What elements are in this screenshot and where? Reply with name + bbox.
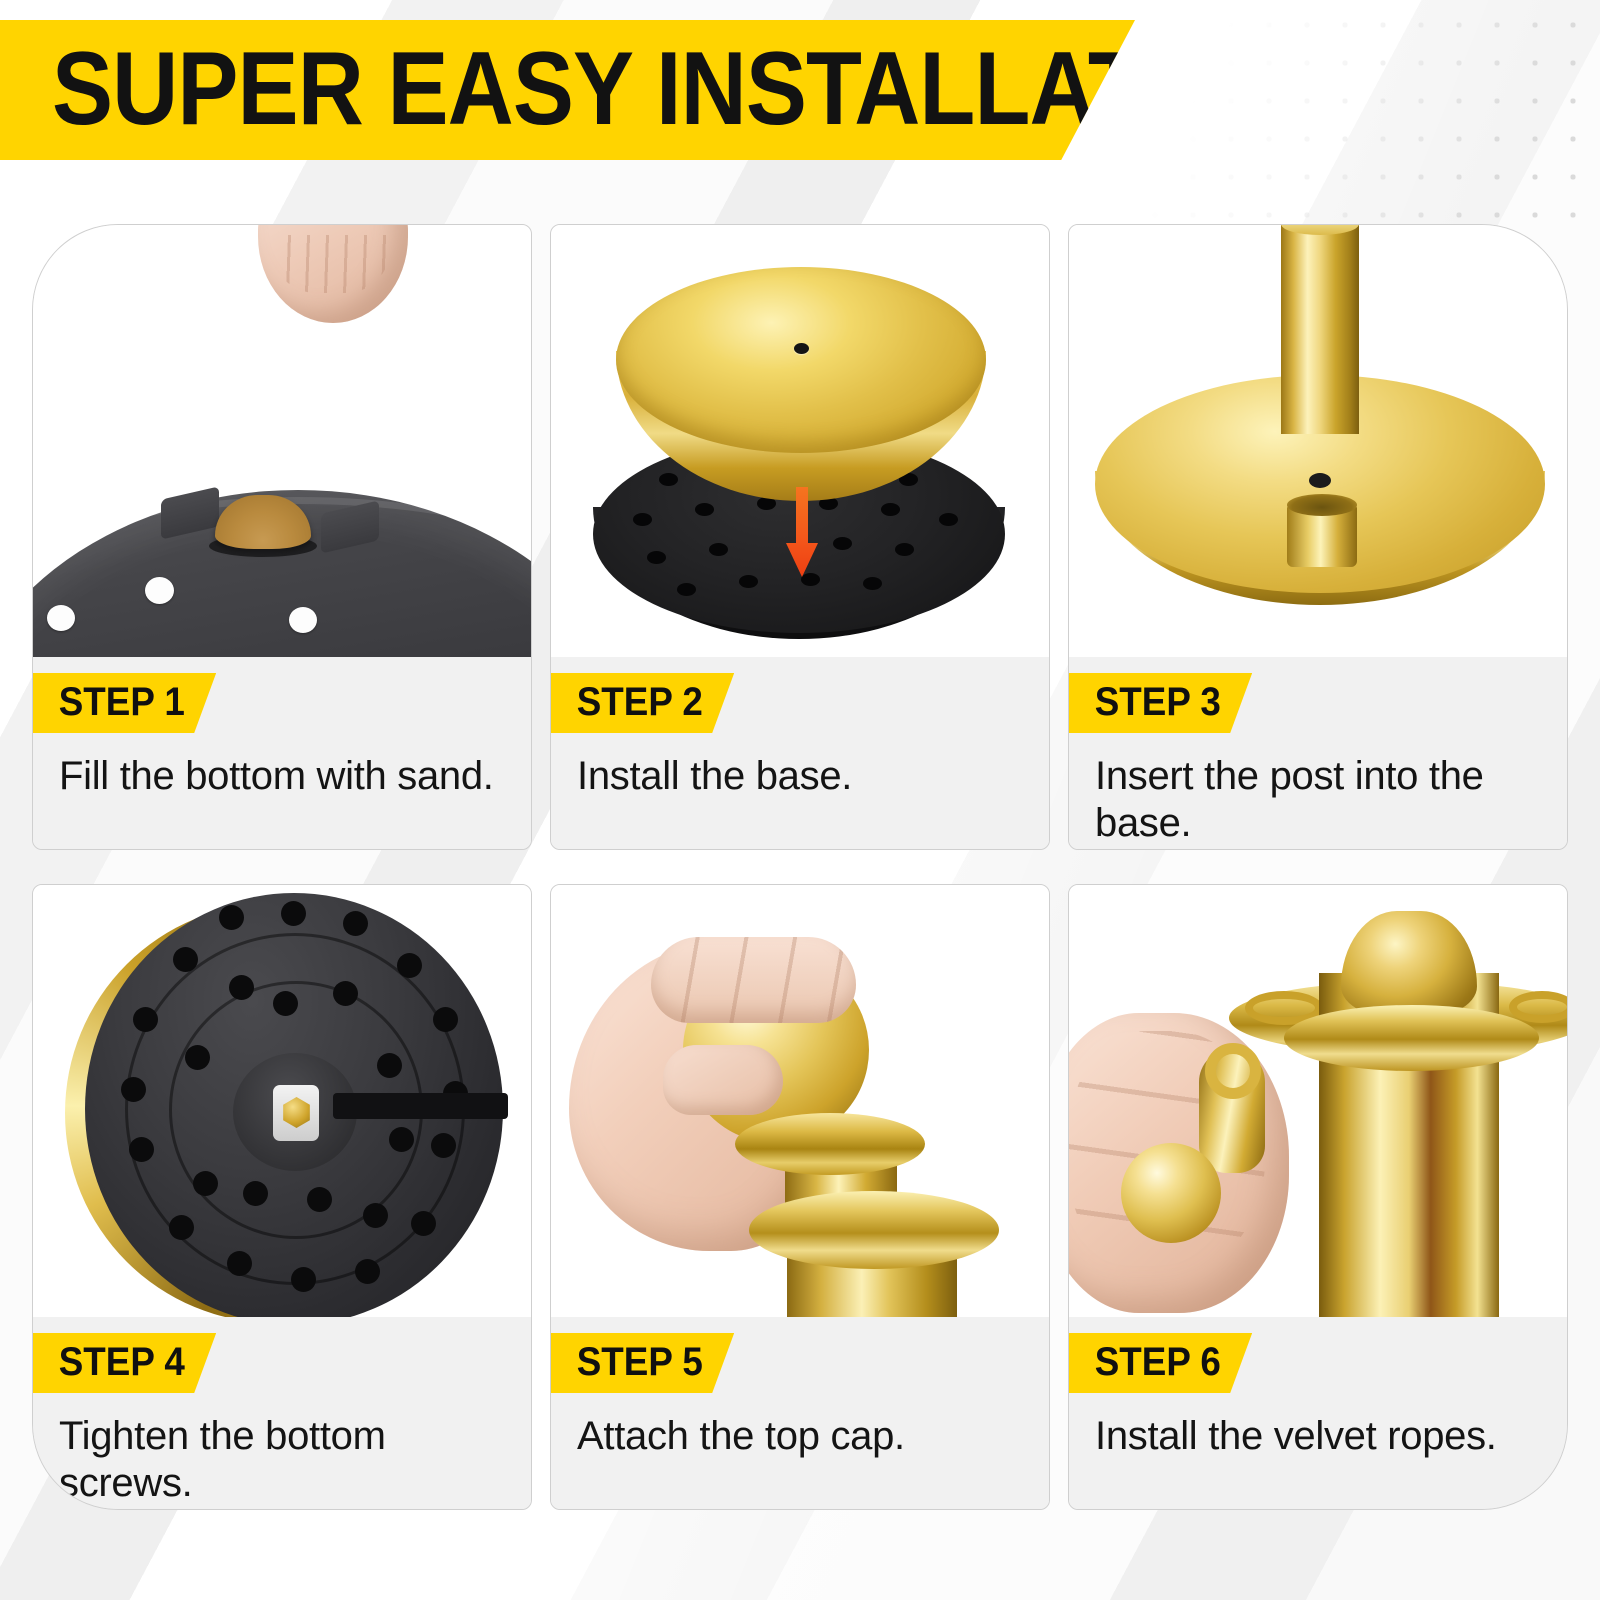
base-perforation — [895, 543, 914, 556]
base-perforation — [709, 543, 728, 556]
step-3-image — [1069, 225, 1567, 657]
base-perforation — [307, 1187, 332, 1212]
base-perforation — [243, 1181, 268, 1206]
gold-post — [1281, 225, 1359, 434]
down-arrow-icon — [784, 487, 820, 579]
step-2-caption-area: STEP 2 Install the base. — [551, 657, 1049, 849]
step-2-tag: STEP 2 — [551, 673, 734, 733]
base-perforation — [739, 575, 758, 588]
base-perforation — [881, 503, 900, 516]
step-4-caption: Tighten the bottom screws. — [59, 1413, 505, 1507]
base-perforation — [193, 1171, 218, 1196]
step-5-caption: Attach the top cap. — [577, 1413, 1023, 1460]
step-5-caption-area: STEP 5 Attach the top cap. — [551, 1317, 1049, 1509]
base-screw-hole — [1309, 473, 1331, 488]
base-perforation — [411, 1211, 436, 1236]
base-perforation — [355, 1259, 380, 1284]
step-5-image — [551, 885, 1049, 1317]
step-6-caption: Install the velvet ropes. — [1095, 1413, 1541, 1460]
step-card-3: STEP 3 Insert the post into the base. — [1068, 224, 1568, 850]
step-5-tag: STEP 5 — [551, 1333, 734, 1393]
header-banner: SUPER EASY INSTALLATION — [0, 20, 1135, 160]
base-socket-boss — [1287, 503, 1357, 567]
base-perforation — [229, 975, 254, 1000]
step-card-2: STEP 2 Install the base. — [550, 224, 1050, 850]
cap-collar-ring — [735, 1113, 925, 1175]
base-perforation — [173, 947, 198, 972]
background-dot-pattern — [1130, 0, 1600, 250]
base-perforation — [647, 551, 666, 564]
base-perforation — [291, 1267, 316, 1292]
step-card-4: STEP 4 Tighten the bottom screws. — [32, 884, 532, 1510]
post-flange-ring — [749, 1191, 999, 1269]
base-perforation — [431, 1133, 456, 1158]
step-4-tag: STEP 4 — [33, 1333, 216, 1393]
thumb — [663, 1045, 783, 1115]
base-perforation — [227, 1251, 252, 1276]
base-perforation — [129, 1137, 154, 1162]
disc-center-hole — [794, 343, 809, 354]
base-perforation — [121, 1077, 146, 1102]
base-perforation — [433, 1007, 458, 1032]
base-perforation — [273, 991, 298, 1016]
snap-hook-eye — [1205, 1043, 1261, 1099]
step-card-6: STEP 6 Install the velvet ropes. — [1068, 884, 1568, 1510]
step-3-caption: Insert the post into the base. — [1095, 753, 1541, 847]
base-hole — [289, 607, 317, 633]
base-perforation — [185, 1045, 210, 1070]
step-6-image — [1069, 885, 1567, 1317]
step-1-tag: STEP 1 — [33, 673, 216, 733]
step-6-tag: STEP 6 — [1069, 1333, 1252, 1393]
step-1-caption: Fill the bottom with sand. — [59, 753, 505, 800]
base-perforation — [659, 473, 678, 486]
base-perforation — [219, 905, 244, 930]
step-1-image — [33, 225, 531, 657]
base-perforation — [281, 901, 306, 926]
base-perforation — [377, 1053, 402, 1078]
base-hole — [47, 605, 75, 631]
base-perforation — [333, 981, 358, 1006]
base-perforation — [133, 1007, 158, 1032]
step-4-caption-area: STEP 4 Tighten the bottom screws. — [33, 1317, 531, 1509]
fingers — [651, 937, 856, 1023]
step-card-1: STEP 1 Fill the bottom with sand. — [32, 224, 532, 850]
base-perforation — [343, 911, 368, 936]
step-4-image — [33, 885, 531, 1317]
base-perforation — [169, 1215, 194, 1240]
step-3-tag: STEP 3 — [1069, 673, 1252, 733]
base-perforation — [633, 513, 652, 526]
step-3-caption-area: STEP 3 Insert the post into the base. — [1069, 657, 1567, 849]
step-6-caption-area: STEP 6 Install the velvet ropes. — [1069, 1317, 1567, 1509]
post-collar-ring — [1284, 1005, 1539, 1071]
step-1-caption-area: STEP 1 Fill the bottom with sand. — [33, 657, 531, 849]
base-perforation — [677, 583, 696, 596]
base-perforation — [695, 503, 714, 516]
rope-end-ball — [1121, 1143, 1221, 1243]
step-2-image — [551, 225, 1049, 657]
step-card-5: STEP 5 Attach the top cap. — [550, 884, 1050, 1510]
step-2-caption: Install the base. — [577, 753, 1023, 800]
steps-grid: STEP 1 Fill the bottom with sand. — [32, 224, 1568, 1510]
hand-icon — [258, 225, 408, 323]
base-perforation — [363, 1203, 388, 1228]
base-hole — [145, 577, 174, 604]
gold-disc-cover — [616, 267, 986, 453]
base-perforation — [397, 953, 422, 978]
base-perforation — [939, 513, 958, 526]
base-slot — [333, 1093, 508, 1119]
base-perforation — [833, 537, 852, 550]
base-perforation — [863, 577, 882, 590]
rope-eyelet — [1509, 991, 1567, 1023]
base-perforation — [389, 1127, 414, 1152]
